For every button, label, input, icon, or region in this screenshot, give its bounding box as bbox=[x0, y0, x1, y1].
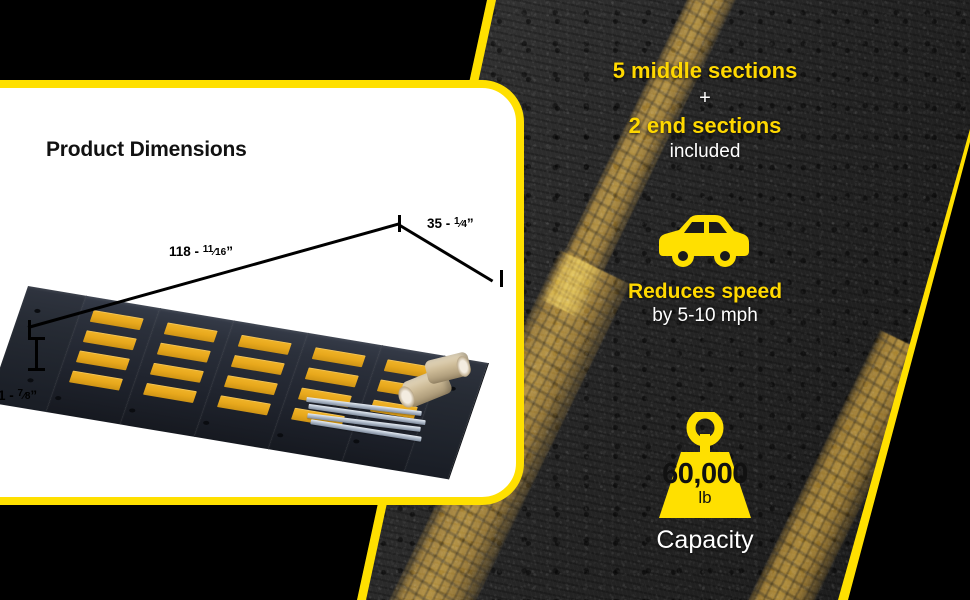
reflective-stripe bbox=[224, 375, 278, 395]
product-photo: 118 - 11⁄16” 35 - 1⁄4” 1 - 7⁄8” bbox=[14, 208, 514, 498]
reflective-stripe bbox=[231, 355, 285, 375]
weight-icon: 60,000 lb bbox=[635, 412, 775, 524]
bolt-icon bbox=[34, 309, 41, 314]
bolt-icon bbox=[27, 378, 34, 383]
plus-symbol: + bbox=[495, 87, 915, 110]
infographic-canvas: Product Dimensions bbox=[0, 0, 970, 600]
reflective-stripe bbox=[69, 371, 123, 391]
reflective-stripe bbox=[76, 350, 130, 370]
car-icon bbox=[659, 212, 751, 274]
bolt-icon bbox=[55, 396, 62, 401]
reflective-stripe bbox=[164, 323, 218, 343]
reflective-stripe bbox=[157, 343, 211, 363]
capacity-unit: lb bbox=[635, 488, 775, 508]
reflective-stripe bbox=[83, 330, 137, 350]
reflective-stripe bbox=[238, 335, 292, 355]
reflective-stripe bbox=[312, 347, 366, 367]
length-tick-left bbox=[28, 320, 31, 337]
reflective-stripe bbox=[150, 363, 204, 383]
bolt-icon bbox=[129, 408, 136, 413]
sections-included-block: 5 middle sections + 2 end sections inclu… bbox=[495, 58, 915, 163]
height-tick-top bbox=[28, 337, 45, 340]
reduces-speed-label: Reduces speed bbox=[495, 280, 915, 304]
bolt-icon bbox=[277, 433, 284, 438]
height-dimension-label: 1 - 7⁄8” bbox=[0, 388, 37, 403]
height-dimension-line bbox=[35, 338, 38, 370]
reflective-stripe bbox=[217, 395, 271, 415]
height-tick-bottom bbox=[28, 368, 45, 371]
page-title: Product Dimensions bbox=[46, 138, 247, 162]
metal-spike-bundle bbox=[306, 402, 436, 438]
width-dimension-line bbox=[399, 224, 493, 282]
width-dimension-label: 35 - 1⁄4” bbox=[427, 216, 474, 231]
length-dimension-label: 118 - 11⁄16” bbox=[169, 244, 233, 259]
middle-sections-label: 5 middle sections bbox=[495, 58, 915, 84]
product-dimensions-card: Product Dimensions bbox=[0, 80, 524, 505]
capacity-label: Capacity bbox=[495, 526, 915, 555]
bolt-icon bbox=[203, 420, 210, 425]
reduces-speed-block: Reduces speed by 5-10 mph bbox=[495, 212, 915, 327]
bolt-icon bbox=[353, 439, 360, 444]
speed-range-label: by 5-10 mph bbox=[495, 305, 915, 327]
end-sections-label: 2 end sections bbox=[495, 113, 915, 139]
capacity-block: 60,000 lb Capacity bbox=[495, 412, 915, 555]
capacity-value: 60,000 bbox=[635, 458, 775, 491]
reflective-stripe bbox=[90, 310, 144, 330]
included-label: included bbox=[495, 141, 915, 163]
reflective-stripe bbox=[305, 367, 359, 387]
reflective-stripe bbox=[143, 383, 197, 403]
length-dimension-line bbox=[28, 223, 400, 329]
